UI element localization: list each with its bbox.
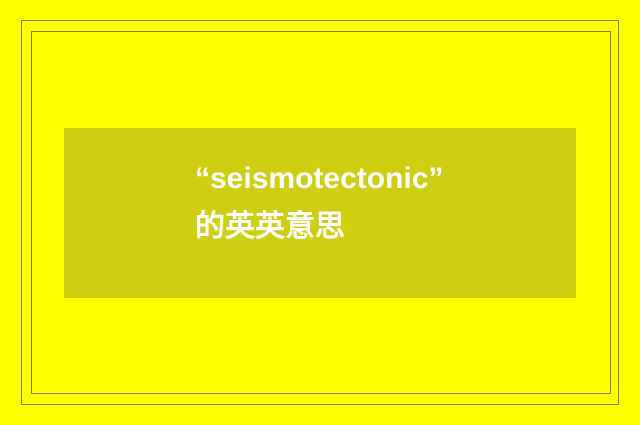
page-canvas: “seismotectonic”的英英意思 xyxy=(0,0,640,425)
title-plate: “seismotectonic”的英英意思 xyxy=(64,128,576,298)
page-title: “seismotectonic”的英英意思 xyxy=(195,155,465,251)
